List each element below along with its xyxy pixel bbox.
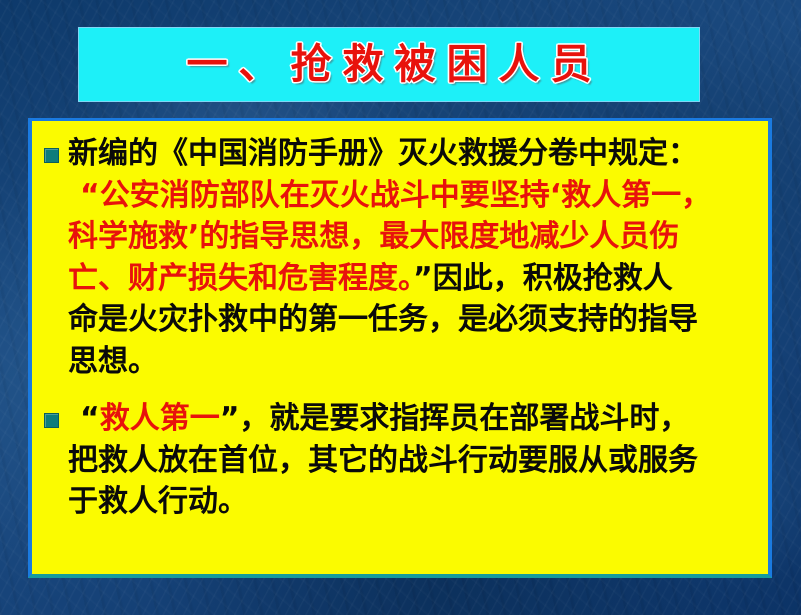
text-run: 命是火灾扑救中的第一任务，是必须支持的指导 [68, 302, 698, 337]
text-run: 亡、财产损失和危害程度。 [68, 261, 413, 296]
slide-content-box: 新编的《中国消防手册》灭火救援分卷中规定： “公安消防部队在灭火战斗中要坚持‘救… [28, 118, 772, 578]
text-line: “公安消防部队在灭火战斗中要坚持‘救人第一， [68, 175, 758, 217]
slide-title-text: 一、抢救被困人员 [176, 44, 603, 85]
bullet-item-2: “救人第一”，就是要求指挥员在部署战斗时， 把救人放在首位，其它的战斗行动要服从… [32, 398, 762, 523]
text-line: 科学施救’的指导思想，最大限度地减少人员伤 [68, 216, 758, 258]
bullet-2-paragraph: “救人第一”，就是要求指挥员在部署战斗时， 把救人放在首位，其它的战斗行动要服从… [32, 398, 762, 523]
text-run: 把救人放在首位，其它的战斗行动要服从或服务 [68, 443, 698, 478]
text-line: 命是火灾扑救中的第一任务，是必须支持的指导 [68, 299, 758, 341]
presentation-slide: 一、抢救被困人员 新编的《中国消防手册》灭火救援分卷中规定： “公安消防部队在灭… [0, 0, 801, 615]
bullet-1-paragraph: 新编的《中国消防手册》灭火救援分卷中规定： “公安消防部队在灭火战斗中要坚持‘救… [32, 133, 762, 382]
text-run: ”，就是要求指挥员在部署战斗时， [220, 401, 690, 436]
text-run: 思想。 [68, 344, 158, 379]
bullet-item-1: 新编的《中国消防手册》灭火救援分卷中规定： “公安消防部队在灭火战斗中要坚持‘救… [32, 133, 762, 382]
text-run: ”因此，积极抢救人 [413, 261, 673, 296]
text-line: 思想。 [68, 341, 758, 383]
text-line: 新编的《中国消防手册》灭火救援分卷中规定： [68, 133, 758, 175]
square-bullet-icon [44, 413, 59, 428]
text-run: “公安消防部队在灭火战斗中要坚持‘救人第一， [80, 178, 711, 213]
text-line: 于救人行动。 [68, 481, 758, 523]
text-run: 于救人行动。 [68, 484, 248, 519]
slide-title-banner: 一、抢救被困人员 [78, 27, 700, 102]
text-run: “ [80, 401, 100, 436]
text-line: 亡、财产损失和危害程度。”因此，积极抢救人 [68, 258, 758, 300]
text-line: 把救人放在首位，其它的战斗行动要服从或服务 [68, 440, 758, 482]
text-line: “救人第一”，就是要求指挥员在部署战斗时， [68, 398, 758, 440]
text-run: 科学施救’的指导思想，最大限度地减少人员伤 [68, 219, 679, 254]
text-run: 新编的《中国消防手册》灭火救援分卷中规定： [68, 136, 698, 171]
text-run: 救人第一 [100, 401, 220, 436]
square-bullet-icon [44, 148, 59, 163]
